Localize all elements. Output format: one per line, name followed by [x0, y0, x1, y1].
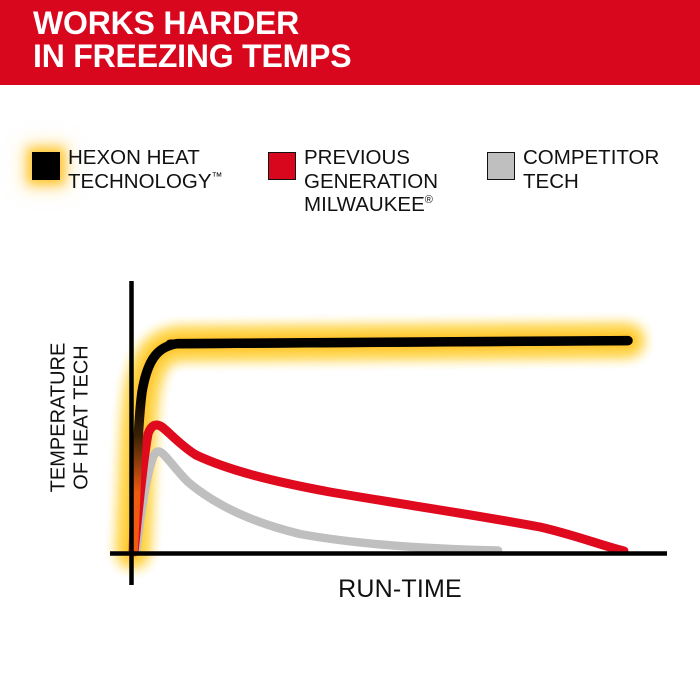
- chart: TEMPERATURE OF HEAT TECH RUN-TIME: [0, 0, 700, 700]
- series-competitor-tech: [136, 451, 498, 552]
- series-previous-generation-milwaukee: [134, 425, 624, 552]
- poster-root: WORKS HARDER IN FREEZING TEMPS HEXON HEA…: [0, 0, 700, 700]
- x-axis-label: RUN-TIME: [133, 575, 667, 604]
- black-curve-glow-layer: [133, 341, 628, 552]
- series-hexon-heat-technology: [133, 341, 628, 552]
- y-axis-label: TEMPERATURE OF HEAT TECH: [48, 288, 93, 548]
